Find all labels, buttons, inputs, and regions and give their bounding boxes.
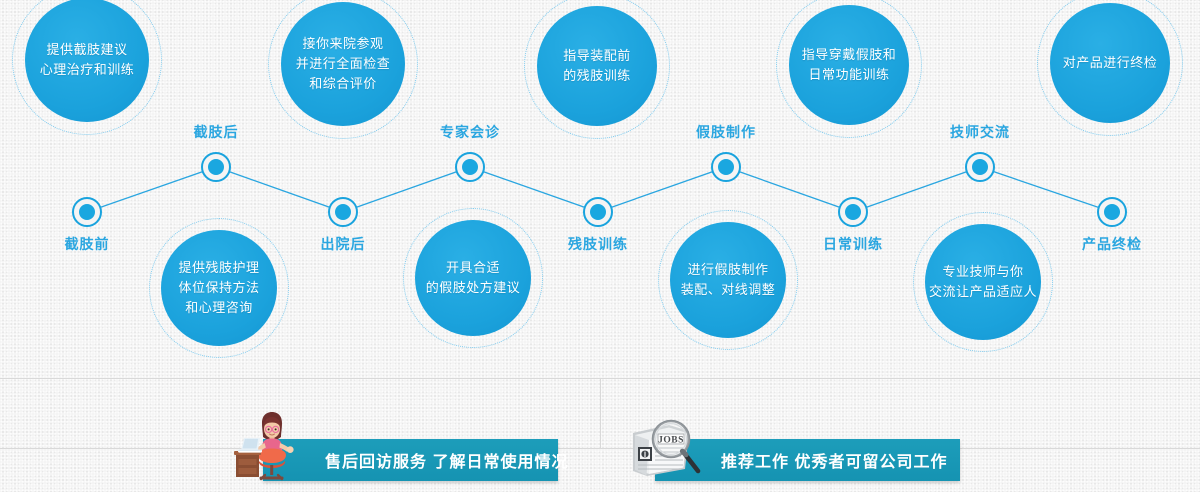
- bubble-text: 开具合适 的假肢处方建议: [426, 258, 521, 298]
- flow-node-dot: [972, 159, 988, 175]
- flow-node-label: 产品终检: [1082, 234, 1142, 254]
- flow-node-dot: [845, 204, 861, 220]
- bubble-text: 对产品进行终检: [1063, 53, 1158, 73]
- flow-node-dot: [1104, 204, 1120, 220]
- flow-node-dot: [208, 159, 224, 175]
- flow-node-dot: [335, 204, 351, 220]
- info-bubble: 开具合适 的假肢处方建议: [403, 208, 543, 348]
- info-bubble: 对产品进行终检: [1037, 0, 1183, 136]
- flow-node-5[interactable]: [711, 152, 741, 182]
- bubble-text: 进行假肢制作 装配、对线调整: [681, 260, 776, 300]
- info-bubble: 提供残肢护理 体位保持方法 和心理咨询: [149, 218, 289, 358]
- flow-node-label: 出院后: [321, 234, 366, 254]
- banner-after-sales[interactable]: 售后回访服务 了解日常使用情况: [263, 439, 558, 481]
- flow-node-label: 残肢训练: [568, 234, 628, 254]
- flow-node-label: 截肢前: [65, 234, 110, 254]
- banner-after-sales-label: 售后回访服务 了解日常使用情况: [325, 448, 568, 472]
- flow-node-1[interactable]: [201, 152, 231, 182]
- info-bubble: 进行假肢制作 装配、对线调整: [658, 210, 798, 350]
- banner-job-referral-label: 推荐工作 优秀者可留公司工作: [721, 448, 947, 472]
- flow-node-0[interactable]: [72, 197, 102, 227]
- flow-node-7[interactable]: [965, 152, 995, 182]
- flow-diagram-canvas: 提供截肢建议 心理治疗和训练提供残肢护理 体位保持方法 和心理咨询接你来院参观 …: [0, 0, 1200, 492]
- info-bubble: 指导装配前 的残肢训练: [524, 0, 670, 139]
- bubble-text: 专业技师与你 交流让产品适应人: [929, 262, 1037, 302]
- bubble-text: 提供截肢建议 心理治疗和训练: [40, 40, 135, 80]
- info-bubble: 接你来院参观 并进行全面检查 和综合评价: [268, 0, 418, 139]
- flow-node-label: 技师交流: [950, 122, 1010, 142]
- flow-node-label: 专家会诊: [440, 122, 500, 142]
- bubble-text: 指导穿戴假肢和 日常功能训练: [802, 45, 897, 85]
- banner-job-referral[interactable]: 推荐工作 优秀者可留公司工作: [655, 439, 960, 481]
- flow-node-8[interactable]: [1097, 197, 1127, 227]
- flow-node-label: 截肢后: [194, 122, 239, 142]
- flow-node-label: 假肢制作: [696, 122, 756, 142]
- flow-node-dot: [79, 204, 95, 220]
- flow-node-4[interactable]: [583, 197, 613, 227]
- flow-node-2[interactable]: [328, 197, 358, 227]
- info-bubble: 提供截肢建议 心理治疗和训练: [12, 0, 162, 135]
- info-bubble: 专业技师与你 交流让产品适应人: [913, 212, 1053, 352]
- bubble-text: 提供残肢护理 体位保持方法 和心理咨询: [178, 258, 259, 318]
- divider-bottom: [0, 448, 1200, 449]
- flow-node-dot: [718, 159, 734, 175]
- bubble-text: 指导装配前 的残肢训练: [563, 46, 631, 86]
- flow-node-6[interactable]: [838, 197, 868, 227]
- divider-vertical: [600, 378, 601, 448]
- flow-node-label: 日常训练: [823, 234, 883, 254]
- bubble-text: 接你来院参观 并进行全面检查 和综合评价: [296, 34, 391, 94]
- flow-node-dot: [462, 159, 478, 175]
- flow-node-dot: [590, 204, 606, 220]
- flow-node-3[interactable]: [455, 152, 485, 182]
- info-bubble: 指导穿戴假肢和 日常功能训练: [776, 0, 922, 138]
